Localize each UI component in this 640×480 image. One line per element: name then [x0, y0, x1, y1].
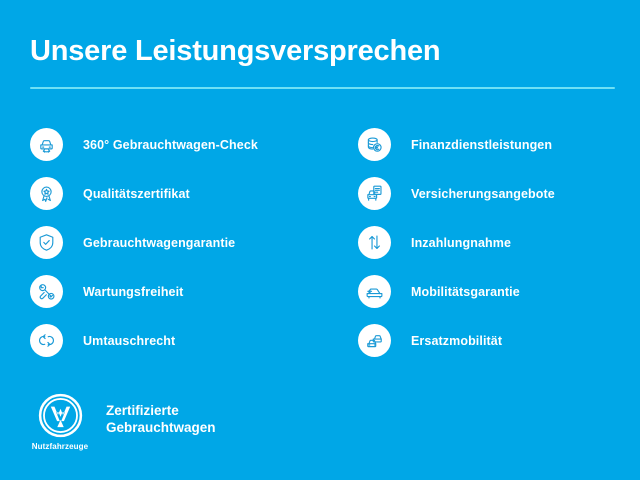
- list-item[interactable]: Wartungsfreiheit: [30, 267, 330, 316]
- list-item-label: 360° Gebrauchtwagen-Check: [83, 138, 258, 152]
- insurance-document-car-icon: [358, 177, 391, 210]
- up-down-arrows-icon: [358, 226, 391, 259]
- exchange-arrows-icon: [30, 324, 63, 357]
- shield-check-icon: [30, 226, 63, 259]
- promise-column-left: 360° Gebrauchtwagen-Check Qualitätszerti…: [30, 120, 330, 365]
- award-rosette-icon: [30, 177, 63, 210]
- brand-sub-label: Nutzfahrzeuge: [32, 442, 88, 451]
- list-item[interactable]: Inzahlungnahme: [358, 218, 640, 267]
- brand-mark: Nutzfahrzeuge: [30, 393, 90, 451]
- two-cars-icon: [358, 324, 391, 357]
- slide-header: Unsere Leistungsversprechen: [30, 34, 615, 89]
- title-divider: [30, 87, 615, 89]
- list-item-label: Mobilitätsgarantie: [411, 285, 520, 299]
- brand-claim: Zertifizierte Gebrauchtwagen: [106, 402, 216, 436]
- slide-root: Unsere Leistungsversprechen 360° Gebrauc…: [0, 0, 640, 480]
- list-item-label: Wartungsfreiheit: [83, 285, 183, 299]
- list-item-label: Umtauschrecht: [83, 334, 175, 348]
- promise-column-right: Finanzdienstleistungen Versicherungsange…: [358, 120, 640, 365]
- coins-euro-icon: [358, 128, 391, 161]
- list-item[interactable]: Gebrauchtwagengarantie: [30, 218, 330, 267]
- brand-lockup: Nutzfahrzeuge Zertifizierte Gebrauchtwag…: [30, 393, 216, 451]
- list-item-label: Ersatzmobilität: [411, 334, 502, 348]
- list-item[interactable]: Umtauschrecht: [30, 316, 330, 365]
- car-360-check-icon: [30, 128, 63, 161]
- page-title: Unsere Leistungsversprechen: [30, 34, 615, 68]
- list-item-label: Versicherungsangebote: [411, 187, 555, 201]
- list-item[interactable]: Finanzdienstleistungen: [358, 120, 640, 169]
- van-arrow-icon: [358, 275, 391, 308]
- list-item[interactable]: Mobilitätsgarantie: [358, 267, 640, 316]
- list-item-label: Inzahlungnahme: [411, 236, 511, 250]
- brand-claim-line1: Zertifizierte: [106, 402, 216, 419]
- list-item-label: Qualitätszertifikat: [83, 187, 190, 201]
- brand-claim-line2: Gebrauchtwagen: [106, 419, 216, 436]
- list-item[interactable]: Qualitätszertifikat: [30, 169, 330, 218]
- list-item-label: Finanzdienstleistungen: [411, 138, 552, 152]
- vw-logo-icon: [38, 393, 83, 438]
- list-item[interactable]: Ersatzmobilität: [358, 316, 640, 365]
- list-item[interactable]: Versicherungsangebote: [358, 169, 640, 218]
- list-item-label: Gebrauchtwagengarantie: [83, 236, 235, 250]
- wrench-check-icon: [30, 275, 63, 308]
- promise-columns: 360° Gebrauchtwagen-Check Qualitätszerti…: [0, 120, 640, 365]
- list-item[interactable]: 360° Gebrauchtwagen-Check: [30, 120, 330, 169]
